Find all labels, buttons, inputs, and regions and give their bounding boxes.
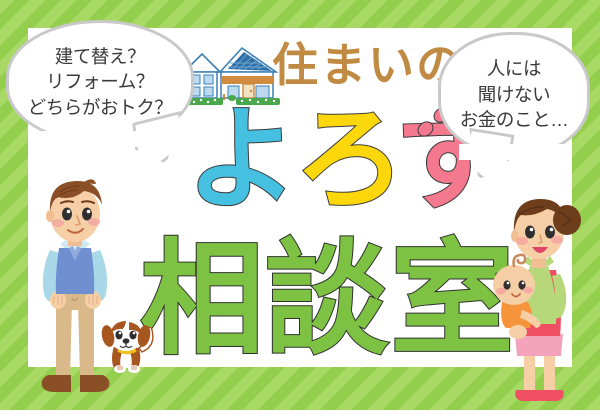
headline-subtitle: 相談室 <box>140 238 515 362</box>
dog-illustration <box>96 312 158 379</box>
speech-bubble-right: 人には 聞けない お金のこと… <box>438 32 590 157</box>
speech-bubble-right-tail-mask <box>459 144 569 160</box>
woman-with-baby-illustration <box>482 192 592 410</box>
speech-bubble-left-tail-mask <box>31 131 179 147</box>
speech-bubble-left: 建て替え？ リフォーム？ どちらがおトク？ <box>6 20 194 144</box>
banner-root: 住まいの よ ろ ず 相談室 建て替え？ リフォーム？ どちらがおトク？ 人には… <box>0 0 600 410</box>
speech-bubble-left-text: 建て替え？ リフォーム？ どちらがおトク？ <box>28 44 173 121</box>
headline-char-yo: よ <box>186 104 298 216</box>
speech-bubble-right-text: 人には 聞けない お金のこと… <box>460 56 569 133</box>
headline-char-ro: ろ <box>294 104 406 216</box>
sparkle-dot <box>414 118 436 139</box>
headline-prefix: 住まいの <box>272 42 464 88</box>
